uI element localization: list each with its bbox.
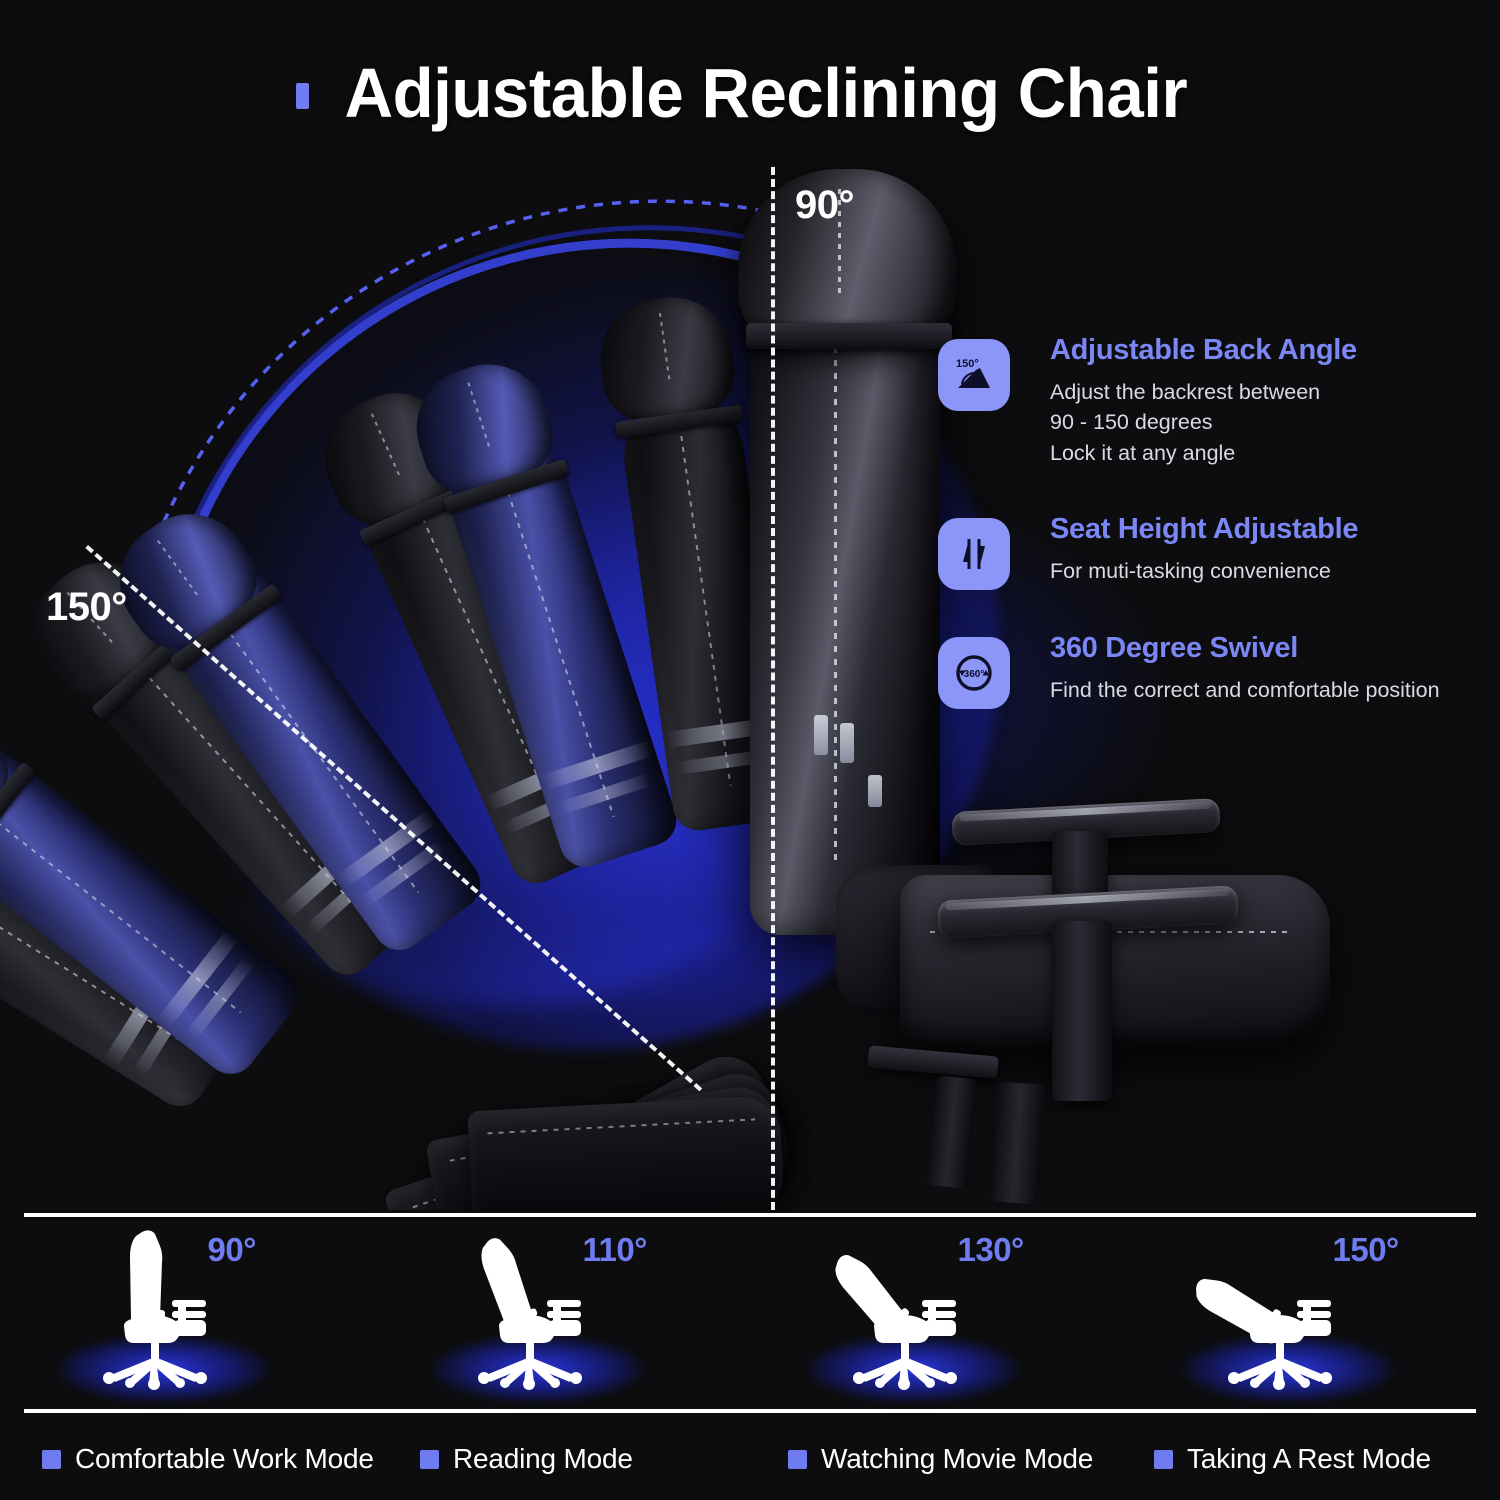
- mode-bullet-icon: [1154, 1450, 1173, 1469]
- feature-desc-line: 90 - 150 degrees: [1050, 407, 1483, 438]
- chair-accent-bar: [868, 775, 882, 807]
- swivel-360-icon: 360°: [938, 637, 1010, 709]
- mode-labels: Comfortable Work Mode Reading Mode Watch…: [0, 1419, 1500, 1499]
- chair-gas-cylinder: [924, 1075, 977, 1189]
- feature-title: Adjustable Back Angle: [1050, 335, 1483, 367]
- chair-headrest-strap: [746, 323, 952, 349]
- feature-desc: For muti-tasking convenience: [1050, 556, 1483, 587]
- strip-top-divider: [24, 1213, 1476, 1217]
- feature-title: Seat Height Adjustable: [1050, 514, 1483, 546]
- chair-base-column: [988, 1081, 1046, 1204]
- angle-label-150: 150°: [46, 585, 127, 630]
- mode-label-item: Taking A Rest Mode: [1134, 1443, 1500, 1475]
- mode-item: 150°: [1125, 1219, 1500, 1409]
- recline-angle-icon: 150°: [938, 339, 1010, 411]
- mode-item: 90°: [0, 1219, 375, 1409]
- feature-title: 360 Degree Swivel: [1050, 633, 1483, 665]
- feature-desc-line: Lock it at any angle: [1050, 438, 1483, 469]
- mode-label: Comfortable Work Mode: [75, 1443, 374, 1475]
- height-adjust-icon: [938, 518, 1010, 590]
- feature-list: 150° Adjustable Back Angle Adjust the ba…: [938, 335, 1483, 733]
- mode-bullet-icon: [42, 1450, 61, 1469]
- mode-label-item: Watching Movie Mode: [766, 1443, 1134, 1475]
- feature-desc: Adjust the backrest between 90 - 150 deg…: [1050, 377, 1483, 469]
- chair-armrest-post-back: [1052, 831, 1108, 901]
- mode-label: Watching Movie Mode: [821, 1443, 1093, 1475]
- mode-item: 130°: [750, 1219, 1125, 1409]
- chair-silhouette-150: [1163, 1226, 1463, 1391]
- feature-desc-line: Adjust the backrest between: [1050, 377, 1483, 408]
- mode-bullet-icon: [420, 1450, 439, 1469]
- feature-360-degree-swivel: 360° 360 Degree Swivel Find the correct …: [938, 633, 1483, 705]
- mode-label-item: Comfortable Work Mode: [0, 1443, 388, 1475]
- page-title: Adjustable Reclining Chair: [344, 58, 1187, 128]
- feature-seat-height-adjustable: Seat Height Adjustable For muti-tasking …: [938, 514, 1483, 586]
- recline-mode-strip: 90°: [0, 1213, 1500, 1500]
- svg-text:360°: 360°: [964, 669, 985, 680]
- chair-silhouette-90: [38, 1226, 338, 1391]
- chair-accent-bar: [814, 715, 828, 755]
- mode-label-item: Reading Mode: [388, 1443, 766, 1475]
- chair-silhouette-130: [788, 1226, 1088, 1391]
- chair-accent-bar: [840, 723, 854, 763]
- feature-adjustable-back-angle: 150° Adjustable Back Angle Adjust the ba…: [938, 335, 1483, 468]
- angle-guide-90-line: [771, 167, 775, 1210]
- mode-label: Reading Mode: [453, 1443, 633, 1475]
- mode-illustrations: 90°: [0, 1219, 1500, 1409]
- page-title-row: Adjustable Reclining Chair: [0, 58, 1500, 128]
- feature-desc: Find the correct and comfortable positio…: [1050, 675, 1483, 706]
- chair-silhouette-110: [413, 1226, 713, 1391]
- strip-bottom-divider: [24, 1409, 1476, 1413]
- chair-tilt-lever: [867, 1045, 998, 1078]
- mode-bullet-icon: [788, 1450, 807, 1469]
- chair-armrest-post-front: [1052, 921, 1112, 1101]
- mode-item: 110°: [375, 1219, 750, 1409]
- angle-label-90: 90°: [795, 183, 854, 228]
- mode-label: Taking A Rest Mode: [1187, 1443, 1431, 1475]
- infographic-page: Adjustable Reclining Chair: [0, 0, 1500, 1500]
- svg-text:150°: 150°: [956, 358, 979, 370]
- title-bullet-icon: [296, 83, 309, 109]
